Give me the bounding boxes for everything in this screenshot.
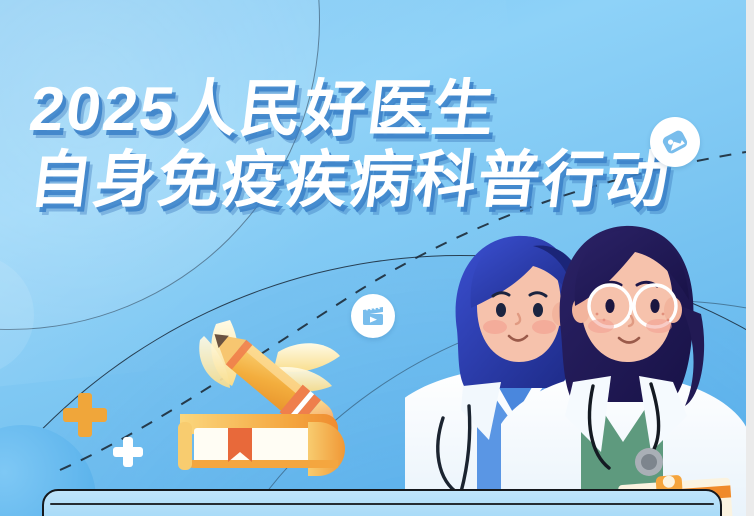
plus-mark-orange [63,393,107,437]
desk-edge-line [50,503,714,505]
plus-bar-vertical [123,437,133,467]
plus-bar-vertical [78,393,92,437]
video-badge[interactable] [351,294,395,338]
doctors-illustration [405,210,746,516]
winged-pencil-and-book-illustration [170,300,370,500]
plus-mark-white [113,437,143,467]
image-icon [660,127,690,157]
poster-canvas: 2025人民好医生 自身免疫疾病科普行动 [0,0,754,516]
right-edge-strip [746,0,754,516]
poster-title: 2025人民好医生 自身免疫疾病科普行动 [30,78,670,212]
title-line-2: 自身免疫疾病科普行动 [26,149,674,212]
photo-badge[interactable] [650,117,700,167]
video-clapperboard-icon [360,303,386,329]
title-line-1: 2025人民好医生 [26,78,674,141]
